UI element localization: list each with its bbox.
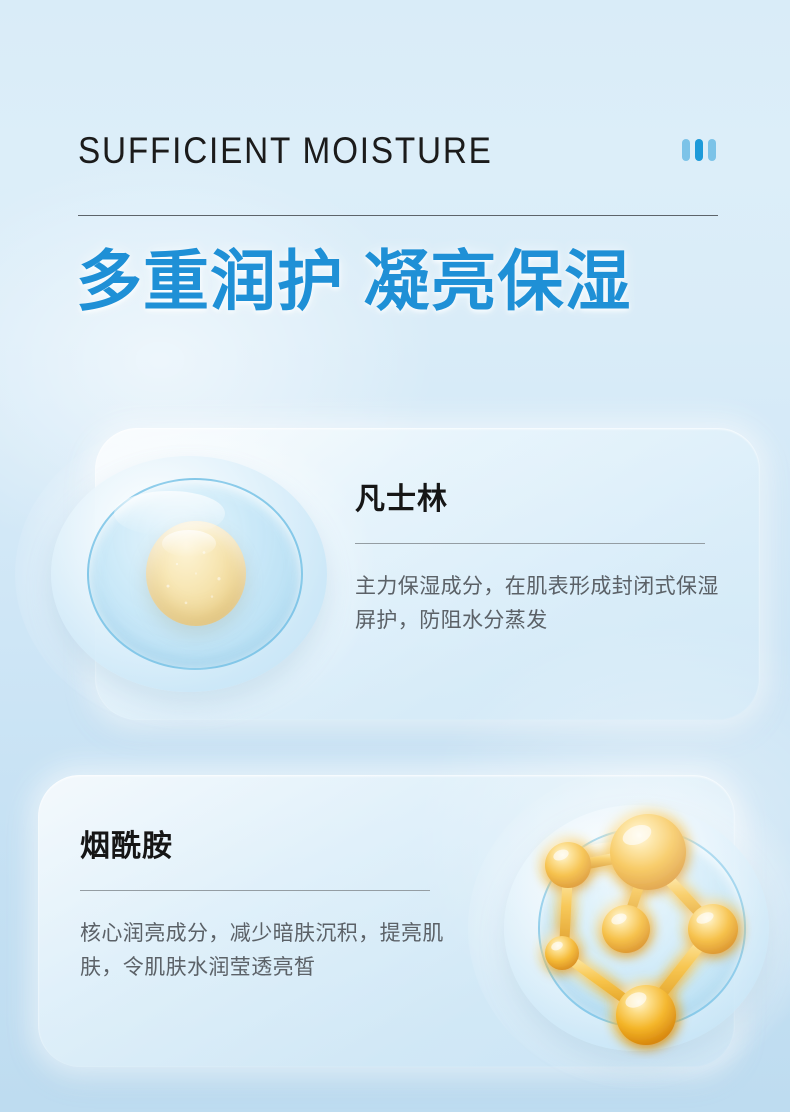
gold-molecule-icon [498,797,786,1059]
ingredient-card-niacinamide: 烟酰胺 核心润亮成分，减少暗肤沉积，提亮肌肤，令肌肤水润莹透亮皙 [38,775,735,1067]
pip-light-icon [708,139,716,161]
card-text-block: 烟酰胺 核心润亮成分，减少暗肤沉积，提亮肌肤，令肌肤水润莹透亮皙 [80,830,480,985]
card-description: 主力保湿成分，在肌表形成封闭式保湿屏护，防阻水分蒸发 [355,570,725,638]
card-divider [80,890,430,891]
ingredient-card-vaseline: 凡士林 主力保湿成分，在肌表形成封闭式保湿屏护，防阻水分蒸发 [95,428,760,720]
card-title: 烟酰胺 [80,830,480,865]
pip-dark-icon [695,139,703,161]
card-title: 凡士林 [355,483,725,518]
cream-dish-illustration [45,448,345,700]
card-text-block: 凡士林 主力保湿成分，在肌表形成封闭式保湿屏护，防阻水分蒸发 [355,483,725,638]
molecule-dish-illustration [498,797,786,1059]
pip-light-icon [682,139,690,161]
pip-indicator-group [682,139,716,161]
card-divider [355,543,705,544]
dish-inner-bowl [87,478,303,670]
card-description: 核心润亮成分，减少暗肤沉积，提亮肌肤，令肌肤水润莹透亮皙 [80,917,480,985]
eyebrow-row: SUFFICIENT MOISTURE [78,122,718,178]
product-ingredient-poster: SUFFICIENT MOISTURE 多重润护 凝亮保湿 凡士林 主力保湿成分… [0,0,790,1112]
header-divider [78,215,718,216]
page-title: 多重润护 凝亮保湿 [76,243,631,321]
eyebrow-title: SUFFICIENT MOISTURE [78,132,493,169]
cream-dome-icon [146,521,246,626]
